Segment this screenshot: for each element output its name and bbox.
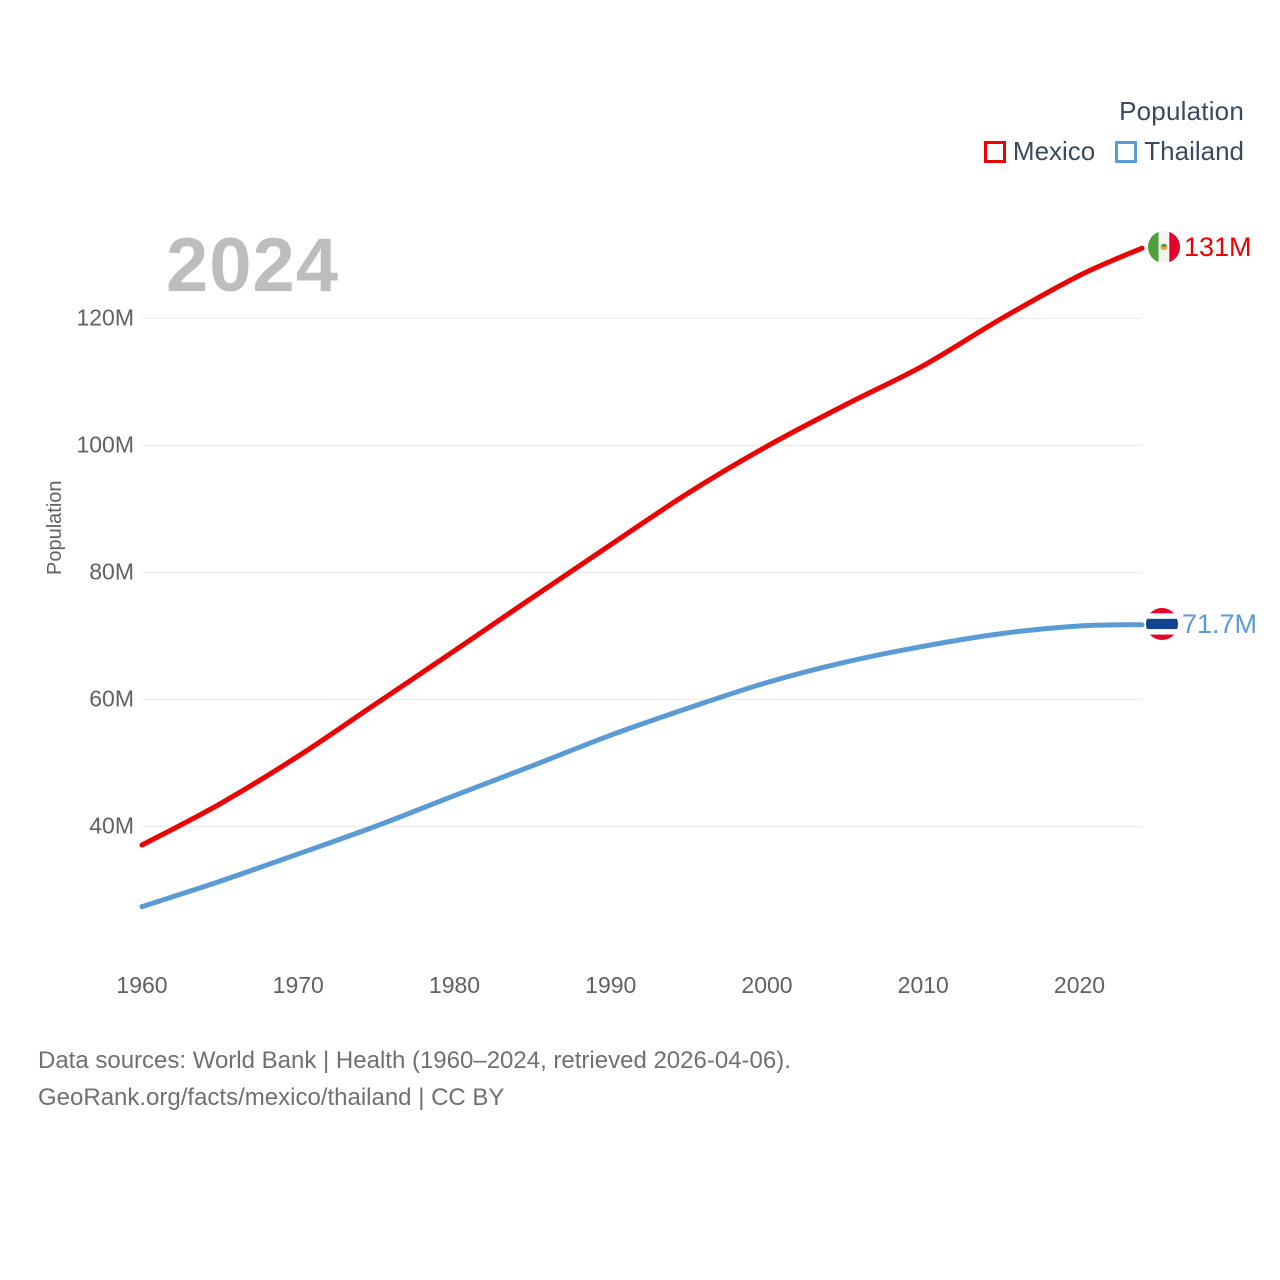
mexico-flag-icon [1148, 231, 1180, 263]
y-axis-title: Population [44, 480, 67, 575]
line-mexico [142, 248, 1142, 845]
line-thailand [142, 625, 1142, 907]
chart-page: Population Mexico Thailand 2024 40M60M80… [0, 0, 1280, 1280]
footer-line-1: Data sources: World Bank | Health (1960–… [38, 1042, 791, 1079]
end-label-mexico: 131M [1148, 231, 1252, 263]
end-value-mexico: 131M [1184, 232, 1252, 263]
end-label-thailand: 71.7M [1146, 608, 1257, 640]
footer-attribution: Data sources: World Bank | Health (1960–… [38, 1042, 791, 1116]
end-value-thailand: 71.7M [1182, 609, 1257, 640]
thailand-flag-icon [1146, 608, 1178, 640]
footer-line-2: GeoRank.org/facts/mexico/thailand | CC B… [38, 1079, 791, 1116]
